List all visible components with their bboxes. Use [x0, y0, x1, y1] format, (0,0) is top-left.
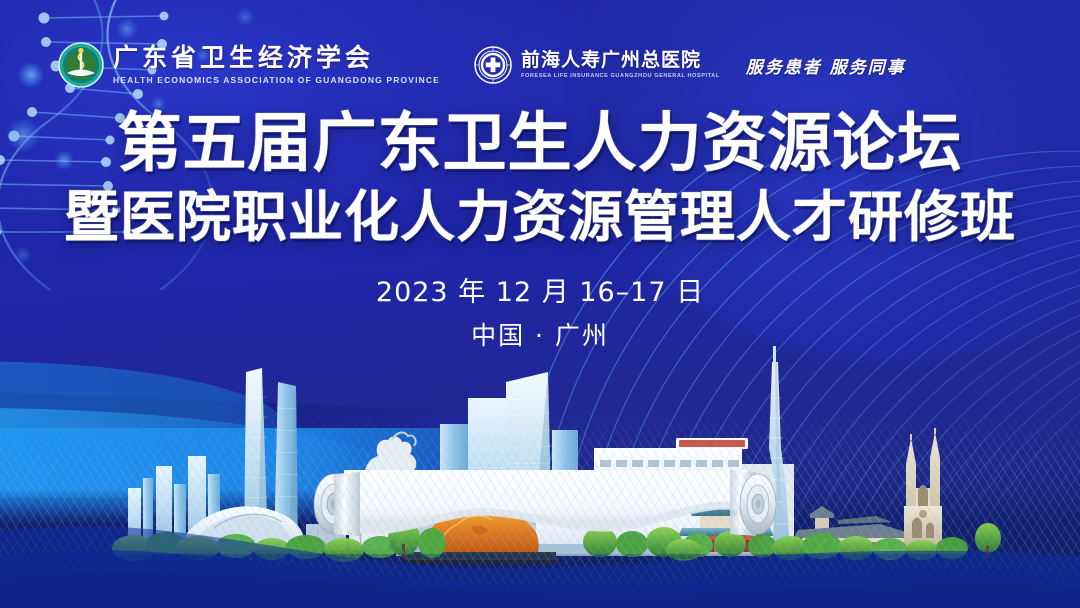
banner-header: 广东省卫生经济学会 HEALTH ECONOMICS ASSOCIATION O…	[58, 34, 906, 96]
hospital-name-en: FORESEA LIFE INSURANCE GUANGZHOU GENERAL…	[521, 73, 720, 79]
event-date: 2023 年 12 月 16–17 日	[0, 275, 1080, 311]
title-line-1: 第五届广东卫生人力资源论坛	[0, 112, 1080, 176]
hospital-name-cn: 前海人寿广州总医院	[521, 51, 720, 71]
event-title: 第五届广东卫生人力资源论坛 暨医院职业化人力资源管理人才研修班	[0, 112, 1080, 245]
association-name-cn: 广东省卫生经济学会	[113, 45, 440, 71]
hospital-cross-emblem-icon	[474, 46, 512, 84]
association-name-en: HEALTH ECONOMICS ASSOCIATION OF GUANGDON…	[113, 75, 440, 85]
title-line-2: 暨医院职业化人力资源管理人才研修班	[0, 190, 1080, 245]
bottom-wave	[0, 498, 1080, 608]
hospital-logo: 前海人寿广州总医院 FORESEA LIFE INSURANCE GUANGZH…	[474, 46, 720, 84]
event-banner: 广东省卫生经济学会 HEALTH ECONOMICS ASSOCIATION O…	[0, 0, 1080, 608]
hospital-slogan: 服务患者 服务同事	[746, 53, 906, 78]
association-logo: 广东省卫生经济学会 HEALTH ECONOMICS ASSOCIATION O…	[58, 42, 440, 88]
health-economics-association-emblem-icon	[58, 42, 104, 88]
